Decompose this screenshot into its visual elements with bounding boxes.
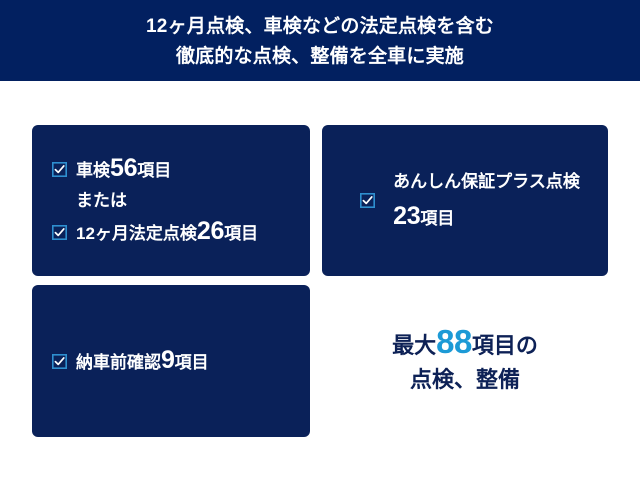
label-prefix: 12ヶ月法定点検 bbox=[76, 224, 197, 243]
warranty-count: 23項目 bbox=[393, 199, 580, 236]
summary-prefix: 最大 bbox=[392, 333, 436, 358]
list-item-label: または bbox=[76, 186, 127, 216]
list-item: 車検56項目 bbox=[52, 153, 300, 186]
warranty-label: あんしん保証プラス点検 bbox=[393, 165, 580, 199]
card-content: 車検56項目 または 12ヶ月法定点検26項目 bbox=[52, 125, 300, 276]
label-prefix: 車検 bbox=[76, 161, 110, 180]
list-item-label: 車検56項目 bbox=[76, 153, 171, 186]
label-suffix: 項目 bbox=[137, 161, 171, 180]
summary-line-1: 最大88項目の bbox=[392, 325, 538, 363]
list-item: 12ヶ月法定点検26項目 bbox=[52, 216, 300, 249]
banner-line-2: 徹底的な点検、整備を全車に実施 bbox=[176, 42, 464, 72]
inspection-infographic: 12ヶ月点検、車検などの法定点検を含む 徹底的な点検、整備を全車に実施 車検56… bbox=[0, 0, 640, 480]
label-suffix: 項目 bbox=[175, 353, 209, 372]
checkbox-checked-icon bbox=[52, 354, 67, 369]
checkbox-checked-icon bbox=[52, 162, 67, 177]
card-content: 納車前確認9項目 bbox=[52, 285, 300, 437]
warranty-plus-card: あんしん保証プラス点検 23項目 bbox=[322, 125, 608, 276]
list-item-label: 納車前確認9項目 bbox=[76, 345, 209, 378]
list-item: または bbox=[52, 186, 300, 216]
summary-suffix: の bbox=[516, 333, 538, 358]
label-prefix: 納車前確認 bbox=[76, 353, 161, 372]
card-content: あんしん保証プラス点検 23項目 bbox=[340, 125, 600, 276]
list-item-label: 12ヶ月法定点検26項目 bbox=[76, 216, 258, 249]
summary-mid: 項目 bbox=[472, 333, 516, 358]
label-number: 23 bbox=[393, 202, 420, 230]
vehicle-inspection-card: 車検56項目 または 12ヶ月法定点検26項目 bbox=[32, 125, 310, 276]
card-text-block: あんしん保証プラス点検 23項目 bbox=[393, 165, 580, 236]
checkbox-checked-icon bbox=[52, 225, 67, 240]
label-number: 9 bbox=[161, 346, 175, 374]
banner-line-1: 12ヶ月点検、車検などの法定点検を含む bbox=[146, 12, 494, 42]
label-number: 56 bbox=[110, 154, 137, 182]
label-suffix: 項目 bbox=[224, 224, 258, 243]
header-banner: 12ヶ月点検、車検などの法定点検を含む 徹底的な点検、整備を全車に実施 bbox=[0, 0, 640, 81]
summary-line-2: 点検、整備 bbox=[410, 363, 520, 397]
summary-total: 最大88項目の 点検、整備 bbox=[322, 285, 608, 437]
label-suffix: 項目 bbox=[420, 209, 454, 228]
label-number: 26 bbox=[197, 217, 224, 245]
list-item: 納車前確認9項目 bbox=[52, 345, 300, 378]
predelivery-check-card: 納車前確認9項目 bbox=[32, 285, 310, 437]
checkbox-checked-icon bbox=[360, 193, 375, 208]
summary-number: 88 bbox=[436, 323, 472, 360]
